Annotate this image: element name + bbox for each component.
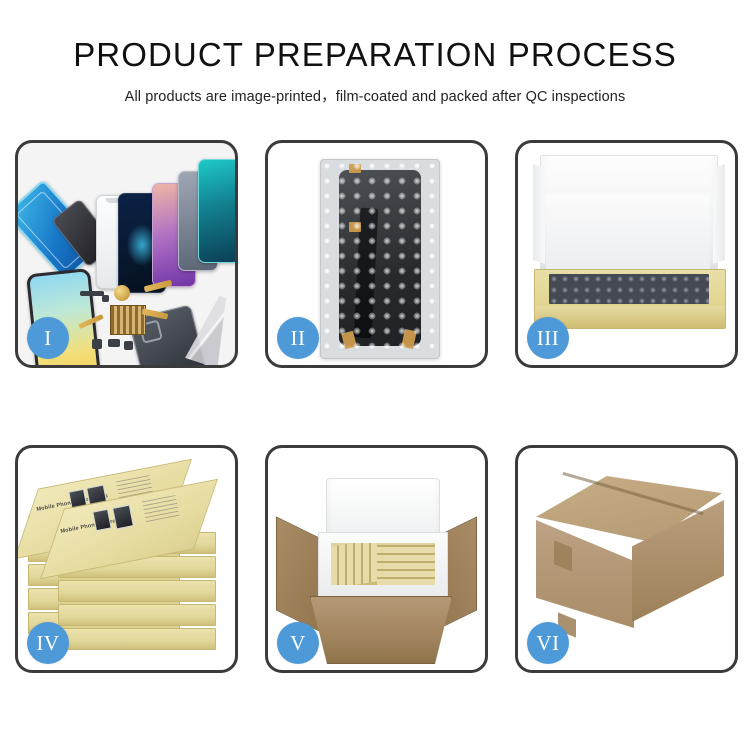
small-part-icon-a bbox=[92, 339, 102, 349]
tape-icon-d bbox=[401, 329, 416, 349]
page-header: PRODUCT PREPARATION PROCESS All products… bbox=[0, 0, 750, 106]
foam-box-contents-icon bbox=[331, 543, 435, 585]
process-step-panel-6[interactable]: VI bbox=[515, 445, 738, 673]
process-step-panel-4[interactable]: Mobile Phone Spare Parts Mobile Phone Sp… bbox=[15, 445, 238, 673]
kraft-tray-icon bbox=[534, 269, 726, 329]
page-subtitle: All products are image-printed，film-coat… bbox=[0, 85, 750, 106]
process-step-panel-1[interactable]: I bbox=[15, 140, 238, 368]
page-root: PRODUCT PREPARATION PROCESS All products… bbox=[0, 0, 750, 750]
process-step-panel-5[interactable]: V bbox=[265, 445, 488, 673]
process-step-panel-3[interactable]: III bbox=[515, 140, 738, 368]
stacked-box-front-4 bbox=[58, 604, 216, 626]
yellow-boxes-left-icon bbox=[331, 543, 377, 585]
step-badge-6: VI bbox=[527, 622, 569, 664]
step-badge-5: V bbox=[277, 622, 319, 664]
foam-box-icon bbox=[318, 532, 448, 600]
step-badge-1: I bbox=[27, 317, 69, 359]
tape-icon-b bbox=[349, 222, 361, 232]
step-badge-4: IV bbox=[27, 622, 69, 664]
process-step-grid: I II bbox=[15, 140, 735, 673]
wrapped-screen-icon bbox=[339, 170, 421, 346]
page-title: PRODUCT PREPARATION PROCESS bbox=[0, 38, 750, 73]
speaker-part-icon bbox=[80, 291, 104, 296]
phone-teal-display-icon bbox=[198, 159, 235, 263]
tape-icon-a bbox=[349, 164, 361, 173]
small-part-icon-b bbox=[108, 339, 120, 347]
small-part-icon-d bbox=[102, 295, 109, 302]
logic-board-icon bbox=[110, 305, 146, 335]
step-badge-3: III bbox=[527, 317, 569, 359]
bubble-wrapped-contents-icon bbox=[549, 274, 709, 304]
process-step-panel-2[interactable]: II bbox=[265, 140, 488, 368]
carton-body-icon bbox=[310, 596, 452, 664]
stacked-box-front-3 bbox=[58, 580, 216, 602]
foam-sheet-icon bbox=[546, 195, 710, 269]
yellow-boxes-right-icon bbox=[377, 545, 435, 585]
stacked-box-front-5 bbox=[58, 628, 216, 650]
small-part-icon-c bbox=[124, 341, 133, 350]
camera-module-icon bbox=[114, 285, 130, 301]
box-chip-lower-b bbox=[112, 504, 134, 529]
carton-left-face-icon bbox=[536, 520, 634, 628]
bubble-wrap-bag-icon bbox=[320, 159, 440, 359]
step-badge-2: II bbox=[277, 317, 319, 359]
